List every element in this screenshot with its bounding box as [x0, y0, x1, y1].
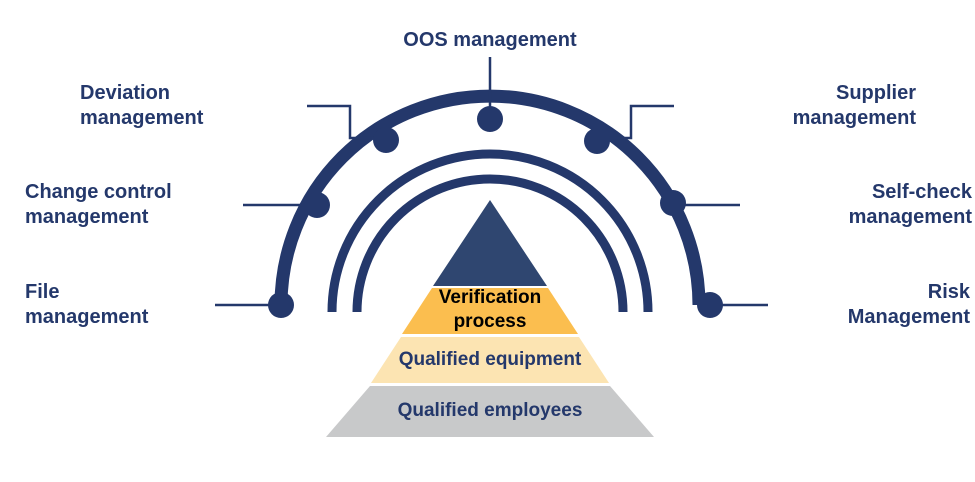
arc-node-oos-management[interactable] [477, 106, 503, 132]
arc-node-file-management[interactable] [268, 292, 294, 318]
label-risk-management: Risk Management [780, 280, 970, 330]
pyramid-tier-verification[interactable] [402, 288, 578, 334]
label-oos-management: OOS management [330, 28, 650, 53]
label-deviation-management: Deviation management [80, 81, 295, 131]
label-change-control-management: Change control management [25, 180, 235, 230]
process-pyramid-diagram: OOS management Deviation management Supp… [0, 0, 975, 482]
arc-node-supplier-management[interactable] [584, 128, 610, 154]
label-supplier-management: Supplier management [686, 81, 916, 131]
diagram-canvas [0, 0, 975, 482]
arc-node-risk-management[interactable] [697, 292, 723, 318]
pyramid-tier-employees[interactable] [326, 386, 654, 437]
label-self-check-management: Self-check management [752, 180, 972, 230]
arc-node-self-check-management[interactable] [660, 190, 686, 216]
label-file-management: File management [25, 280, 205, 330]
pyramid-group [326, 200, 654, 437]
arc-node-deviation-management[interactable] [373, 127, 399, 153]
pyramid-tier-equipment[interactable] [371, 337, 609, 383]
arc-node-change-control-management[interactable] [304, 192, 330, 218]
pyramid-apex[interactable] [433, 200, 547, 286]
